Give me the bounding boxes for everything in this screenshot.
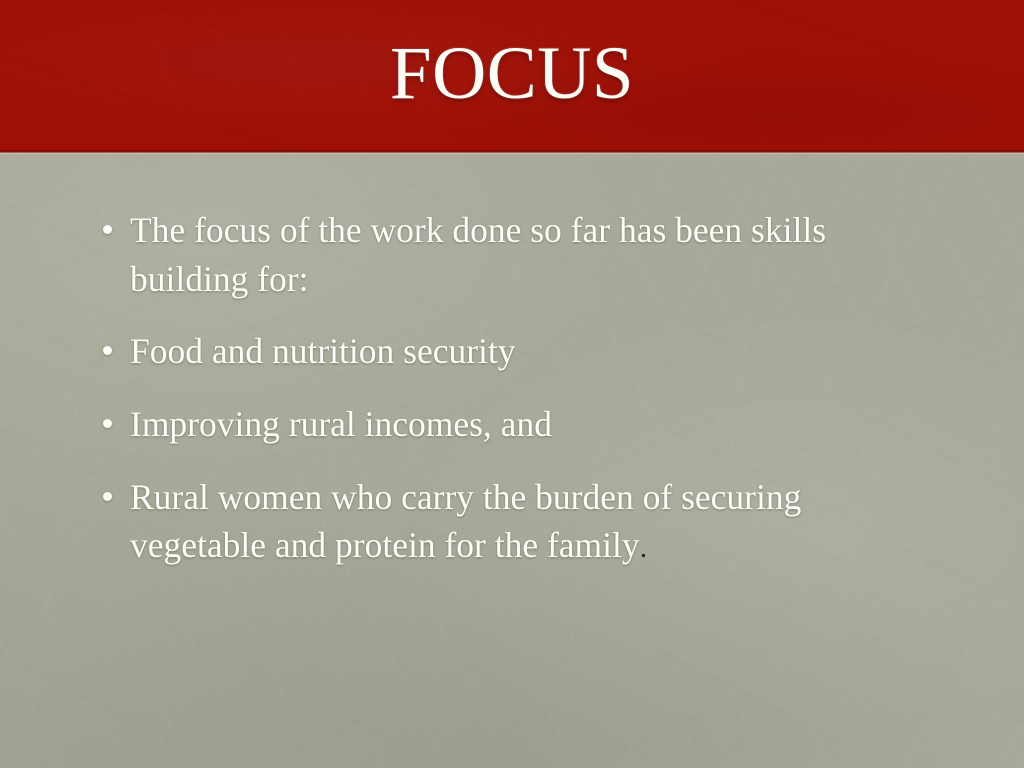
list-item: Improving rural incomes, and <box>95 400 925 449</box>
list-item-text: Rural women who carry the burden of secu… <box>130 477 801 566</box>
list-item: Food and nutrition security <box>95 327 925 376</box>
bullet-dot-icon <box>103 225 112 234</box>
bullet-dot-icon <box>103 492 112 501</box>
list-item: The focus of the work done so far has be… <box>95 206 925 303</box>
page-title: FOCUS <box>0 36 1024 111</box>
presentation-slide: FOCUS The focus of the work done so far … <box>0 0 1024 768</box>
bullet-dot-icon <box>103 346 112 355</box>
list-item-label: Rural women who carry the burden of secu… <box>130 473 925 570</box>
list-item-label: Improving rural incomes, and <box>130 400 925 449</box>
banner-divider-rule <box>0 150 1024 154</box>
trailing-period: . <box>640 531 648 564</box>
bullet-list: The focus of the work done so far has be… <box>95 206 925 570</box>
bullet-dot-icon <box>103 419 112 428</box>
list-item: Rural women who carry the burden of secu… <box>95 473 925 570</box>
list-item-label: The focus of the work done so far has be… <box>130 206 925 303</box>
list-item-label: Food and nutrition security <box>130 327 925 376</box>
